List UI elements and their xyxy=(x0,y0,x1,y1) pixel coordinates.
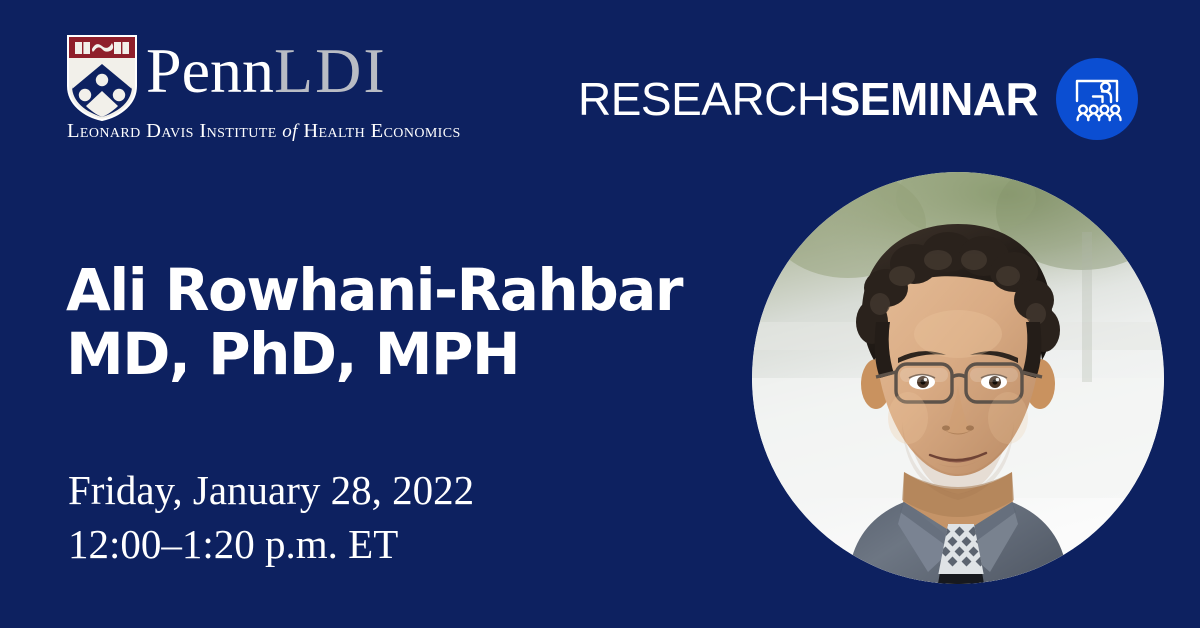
speaker-portrait xyxy=(752,172,1164,584)
penn-ldi-wordmark: PennLDI xyxy=(146,32,387,110)
speaker-name-line-1: Ali Rowhani-Rahbar xyxy=(66,258,746,322)
tagline-part-2: Health Economics xyxy=(298,120,461,142)
header: PennLDI Leonard Davis Institute of Healt… xyxy=(0,0,1200,165)
wordmark-penn: Penn xyxy=(146,35,274,106)
event-time: 12:00–1:20 p.m. ET xyxy=(68,517,728,571)
penn-shield-icon xyxy=(66,34,138,122)
wordmark-ldi: LDI xyxy=(274,35,387,106)
tagline-part-1: Leonard Davis Institute xyxy=(67,120,282,142)
tagline-of: of xyxy=(282,121,298,142)
event-date: Friday, January 28, 2022 xyxy=(68,463,728,517)
speaker-name-block: Ali Rowhani-Rahbar MD, PhD, MPH xyxy=(66,258,746,386)
speaker-credentials-line: MD, PhD, MPH xyxy=(66,322,746,386)
seminar-announcement-card: PennLDI Leonard Davis Institute of Healt… xyxy=(0,0,1200,628)
penn-ldi-logo: PennLDI Leonard Davis Institute of Healt… xyxy=(66,34,486,144)
institute-tagline: Leonard Davis Institute of Health Econom… xyxy=(67,120,461,143)
research-seminar-label: RESEARCHSEMINAR xyxy=(578,76,1038,122)
research-seminar-lockup: RESEARCHSEMINAR xyxy=(578,56,1138,142)
event-datetime-block: Friday, January 28, 2022 12:00–1:20 p.m.… xyxy=(68,463,728,571)
label-research: RESEARCH xyxy=(578,73,830,125)
presentation-audience-icon xyxy=(1056,58,1138,140)
label-seminar: SEMINAR xyxy=(830,73,1039,125)
